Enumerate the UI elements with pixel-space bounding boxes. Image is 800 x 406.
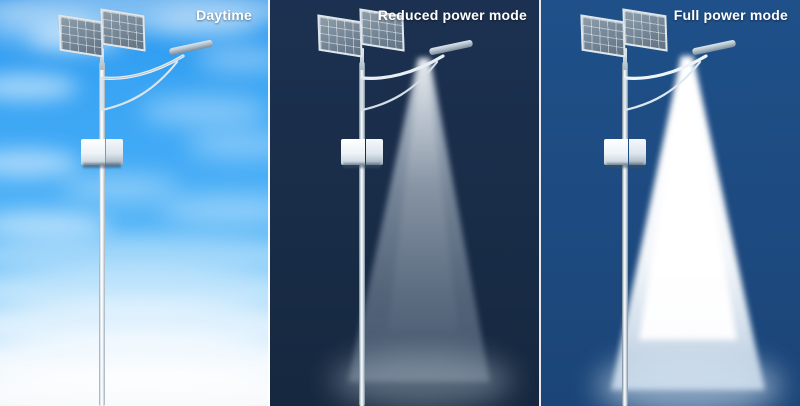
battery-box-shadow <box>83 163 122 168</box>
battery-box-face-right <box>629 139 646 165</box>
battery-box <box>341 139 383 165</box>
battery-box-face-left <box>604 139 628 165</box>
battery-box-face-left <box>341 139 365 165</box>
battery-box-face-right <box>106 139 123 165</box>
panel-reduced-power: Reduced power mode <box>270 0 541 406</box>
solar-street-light-reduced <box>302 0 502 406</box>
panel-divider-1 <box>268 0 270 406</box>
caption-full-power: Full power mode <box>674 7 788 23</box>
battery-box-shadow <box>606 163 645 168</box>
battery-box-shadow <box>343 163 382 168</box>
battery-box <box>81 139 123 165</box>
comparison-image: Daytime <box>0 0 800 406</box>
battery-box <box>604 139 646 165</box>
panel-divider-2 <box>539 0 541 406</box>
battery-box-face-left <box>81 139 105 165</box>
solar-street-light-full <box>565 0 765 406</box>
panel-full-power: Full power mode <box>541 0 800 406</box>
solar-street-light-daytime <box>55 0 255 406</box>
panel-daytime: Daytime <box>0 0 270 406</box>
curved-boom-arm <box>302 0 502 200</box>
curved-boom-arm <box>565 0 765 200</box>
battery-box-face-right <box>366 139 383 165</box>
caption-reduced-power: Reduced power mode <box>378 7 527 23</box>
curved-boom-arm <box>55 0 255 200</box>
caption-daytime: Daytime <box>196 7 252 23</box>
